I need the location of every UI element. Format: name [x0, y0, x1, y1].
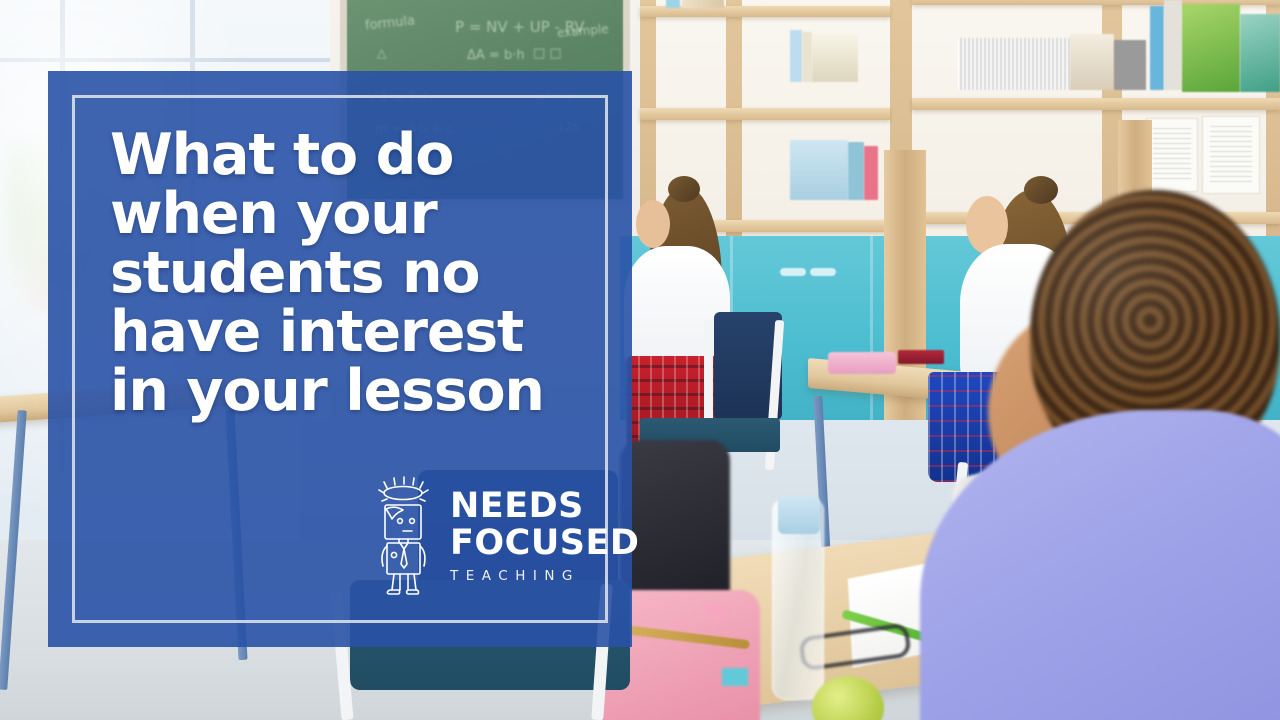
- bookcase-post: [884, 150, 926, 450]
- water-bottle-cap: [778, 496, 820, 534]
- sticky-note: [722, 668, 748, 686]
- brand-logo[interactable]: NEEDS FOCUSED TEACHING: [370, 471, 600, 601]
- student-foreground: [960, 160, 1280, 720]
- logo-line-focused: FOCUSED: [450, 525, 639, 561]
- stick-figure-with-halo-icon: [370, 476, 436, 596]
- logo-line-teaching: TEACHING: [450, 568, 639, 584]
- red-book: [898, 350, 944, 364]
- logo-line-needs: NEEDS: [450, 488, 639, 524]
- pencil-case: [828, 352, 896, 374]
- logo-wordmark: NEEDS FOCUSED TEACHING: [450, 488, 639, 583]
- headline-text: What to do when your students no have in…: [110, 126, 592, 421]
- blue-overlay-panel: What to do when your students no have in…: [48, 71, 632, 647]
- sticky-note: [706, 604, 728, 620]
